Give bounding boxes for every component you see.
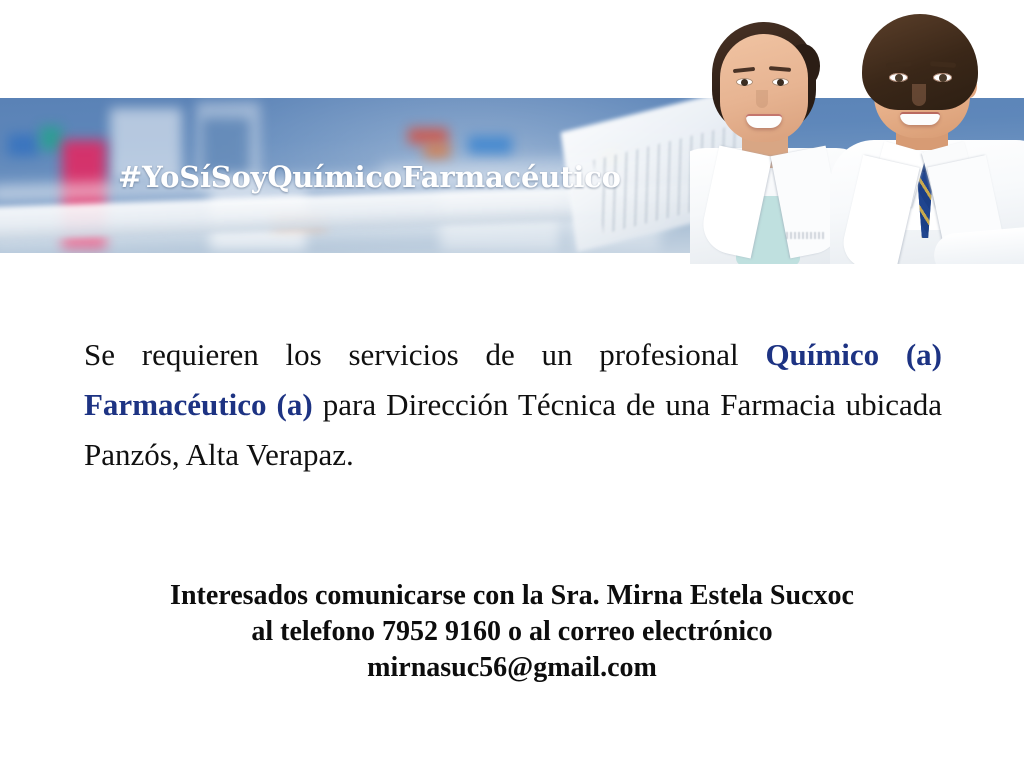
contact-block: Interesados comunicarse con la Sra. Mirn… xyxy=(64,578,960,686)
product-box-orange xyxy=(424,144,450,158)
product-box-blue xyxy=(468,136,512,154)
contact-line-name: Interesados comunicarse con la Sra. Mirn… xyxy=(64,578,960,614)
pharmacists-photo xyxy=(690,0,1024,264)
product-box-teal xyxy=(40,126,62,150)
woman-smile xyxy=(746,114,782,128)
man-pupil-left xyxy=(895,74,903,82)
product-box-blue xyxy=(8,134,38,156)
woman-pupil-left xyxy=(741,79,748,86)
campaign-hashtag: #YoSíSoyQuímicoFarmacéutico xyxy=(118,160,621,194)
flyer-page: #YoSíSoyQuímicoFarmacéutico xyxy=(0,0,1024,771)
woman-coat-embroidery xyxy=(786,232,826,239)
job-description-block: Se requieren los servicios de un profesi… xyxy=(84,330,942,480)
man-smile xyxy=(900,112,940,125)
product-box-red xyxy=(408,128,448,144)
man-nose xyxy=(912,84,926,106)
job-description-paragraph: Se requieren los servicios de un profesi… xyxy=(84,330,942,480)
contact-line-phone: al telefono 7952 9160 o al correo electr… xyxy=(64,614,960,650)
woman-nose xyxy=(756,90,768,108)
woman-pupil-right xyxy=(777,79,784,86)
contact-line-email: mirnasuc56@gmail.com xyxy=(64,650,960,686)
man-pupil-right xyxy=(939,74,947,82)
job-description-part1: Se requieren los servicios de un profesi… xyxy=(84,337,765,372)
